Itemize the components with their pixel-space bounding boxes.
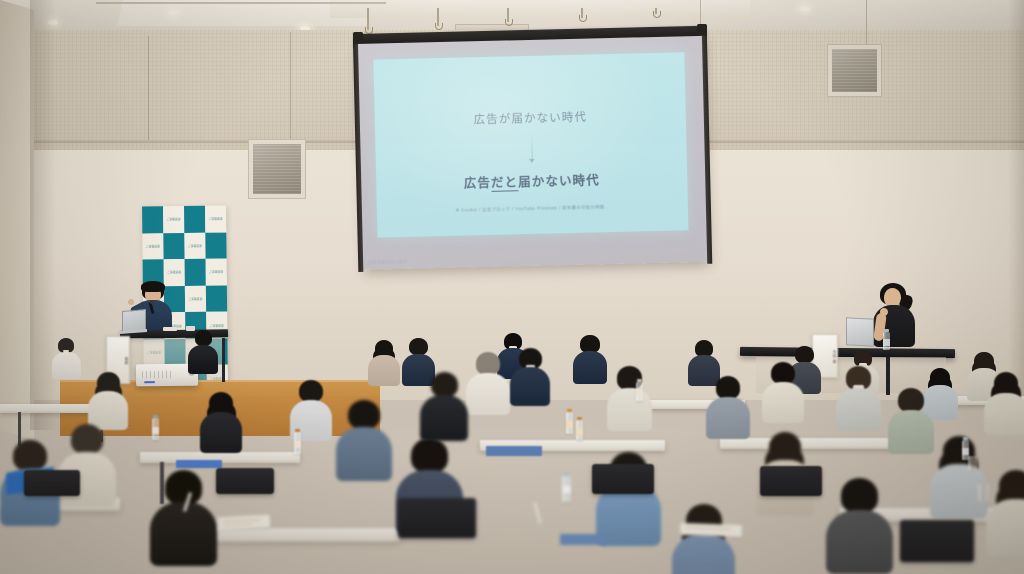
bottle-label [636, 390, 643, 397]
screen-hook [655, 8, 657, 14]
backdrop-cell-label: ご清聴感謝 [206, 323, 227, 327]
audience-member [150, 470, 217, 572]
bottle-cap [153, 415, 158, 418]
audience-member [58, 424, 116, 512]
wall-speaker-grille [828, 45, 881, 96]
bottle-label [962, 448, 969, 455]
ceiling-downlight [168, 10, 178, 15]
audience-member-hair [299, 380, 323, 402]
chair-back [760, 466, 822, 496]
panelist-hand [880, 308, 888, 316]
audience-member [368, 340, 400, 389]
audience-member [52, 338, 81, 381]
handout-line [223, 519, 261, 522]
audience-member [986, 470, 1024, 561]
bottle-cap [637, 379, 642, 382]
screen-hook [367, 8, 369, 30]
screen-side-rail [353, 44, 363, 272]
audience-member-hair [195, 330, 212, 346]
backdrop-cell-teal [142, 206, 163, 233]
audience-member [200, 392, 242, 456]
bottle-cap [567, 409, 572, 412]
audience-member-hair [898, 388, 924, 412]
audience-member-torso [573, 351, 607, 384]
audience-member-torso [466, 373, 510, 415]
audience-member [466, 352, 510, 419]
handout [680, 523, 742, 537]
audience-member [930, 436, 988, 524]
backdrop-cell-teal [163, 233, 184, 260]
audience-member-torso [706, 397, 750, 439]
slide-headline-before: 広告が届かない時代 [375, 106, 686, 129]
presenter-notes [163, 327, 177, 331]
audience-member [888, 388, 934, 458]
backdrop-cell-label: ご清聴感謝 [184, 244, 205, 248]
handout [218, 515, 271, 531]
backdrop-cell-label: ご清聴感謝 [185, 297, 206, 301]
bottle-cap [963, 437, 968, 440]
bottle-label [883, 339, 890, 346]
audience-member [762, 362, 804, 426]
wall-speaker-grille [249, 140, 305, 198]
backdrop-cell-white: ご清聴感謝 [163, 206, 184, 233]
chair-back [398, 498, 476, 538]
audience-member-torso [336, 427, 392, 481]
projector-vent [142, 371, 172, 378]
slide-headline-after-pre: 広告 [464, 175, 492, 191]
audience-member [836, 366, 881, 435]
projected-slide: 広告が届かない時代 広告だと届かない時代 ※ Cookie / 広告ブロック /… [373, 52, 688, 237]
audience-member [510, 348, 550, 410]
chair-back [24, 470, 80, 496]
audience-member-hair [695, 340, 713, 357]
audience-member [573, 335, 607, 387]
panelist-laptop [846, 317, 874, 346]
audience-member-torso [986, 499, 1024, 556]
screen-hook [437, 8, 439, 26]
water-bottle [883, 332, 890, 350]
backdrop-cell-label: ご清聴感謝 [206, 270, 227, 274]
audience-member-hair [431, 372, 458, 397]
wall-panel-seam [290, 32, 291, 140]
notebook [176, 460, 222, 468]
audience-member-hair [580, 335, 599, 353]
audience-member-hair [409, 338, 428, 355]
backdrop-cell-teal [206, 285, 227, 312]
backdrop-cell-label: ご清聴感謝 [142, 244, 163, 248]
presenter-table-leg [222, 338, 225, 382]
audience-member-torso [188, 345, 218, 374]
right-wall-edge [1008, 0, 1024, 420]
notebook [560, 534, 606, 545]
microphone-head [150, 300, 155, 304]
chair-back [900, 520, 974, 562]
audience-member-torso [672, 534, 735, 574]
audience-member-torso [826, 510, 893, 574]
water-bottle [566, 412, 573, 434]
audience-member-torso [150, 502, 217, 566]
screen-hook [581, 8, 583, 18]
water-bottle [636, 382, 643, 401]
slide-arrow-icon [531, 134, 533, 162]
backdrop-cell-label: ご清聴感謝 [163, 217, 184, 221]
water-bottle [576, 420, 583, 440]
audience-member-hair [795, 346, 814, 363]
slide-headline-after-post: 届かない時代 [518, 172, 600, 189]
wall-panel-seam [148, 36, 149, 140]
audience-member-torso [984, 393, 1024, 435]
seminar-room-photo: 広告が届かない時代 広告だと届かない時代 ※ Cookie / 広告ブロック /… [0, 0, 1024, 574]
audience-member-torso [607, 388, 652, 431]
handout-line [685, 527, 731, 530]
audience-member [826, 478, 893, 574]
audience-member-hair [71, 424, 104, 454]
audience-member-hair [13, 440, 47, 471]
audience-member [336, 400, 392, 485]
water-bottle [152, 418, 159, 440]
audience-member-hair [165, 470, 203, 505]
iced-coffee-cup [968, 456, 977, 471]
water-bottle [294, 432, 301, 454]
backdrop-cell-label: ご清聴感謝 [164, 270, 185, 274]
backdrop-cell-white: ご清聴感謝 [184, 232, 205, 259]
backdrop-cell-white: ご清聴感謝 [205, 206, 226, 233]
audience-member-torso [510, 367, 550, 406]
notebook [486, 446, 542, 456]
presenter-hair-top [141, 281, 165, 292]
screen-hook [507, 8, 509, 22]
backdrop-cell-label: ご清聴感謝 [205, 217, 226, 221]
audience-member-hair [476, 352, 501, 375]
bottle-label [294, 441, 301, 448]
slide-footer-label: 広告が届かない時代 [368, 259, 408, 266]
chair-back [592, 464, 654, 494]
audience-member [607, 366, 652, 435]
audience-member [706, 376, 750, 443]
ceiling-downlight [800, 6, 810, 11]
panelist-seated-right [866, 283, 928, 353]
audience-member-torso [420, 395, 468, 441]
audience-member-torso [888, 410, 934, 454]
audience-member [672, 504, 735, 574]
bottle-cap [884, 329, 889, 332]
backdrop-cell-white: ご清聴感謝 [206, 259, 227, 286]
slide-headline-after-emphasis: だと [491, 174, 519, 192]
bottle-cap [295, 429, 300, 432]
handout-line [223, 524, 253, 527]
audience-member-torso [836, 388, 881, 431]
bottle-label [566, 421, 573, 428]
bottle-label [562, 486, 571, 493]
water-bottle [562, 476, 571, 502]
ceiling-seam [96, 2, 387, 4]
backdrop-cell-teal [205, 232, 226, 259]
projector-status-led [144, 381, 155, 383]
bottle-label [576, 428, 583, 435]
audience-member [984, 372, 1024, 439]
audience-member-torso [52, 352, 81, 379]
audience-member-torso [762, 382, 804, 422]
projection-screen: 広告が届かない時代 広告だと届かない時代 ※ Cookie / 広告ブロック /… [355, 8, 710, 273]
presenter-left-hand [128, 299, 134, 305]
audience-member [420, 372, 468, 446]
screen-surface: 広告が届かない時代 広告だと届かない時代 ※ Cookie / 広告ブロック /… [357, 36, 708, 270]
slide-headline-after: 広告だと届かない時代 [376, 167, 687, 193]
audience-member-torso [368, 355, 400, 386]
bottle-label [152, 427, 159, 434]
left-wall [0, 0, 34, 440]
audience-member-hair [348, 400, 380, 429]
bottle-cap [577, 417, 582, 420]
iced-coffee-cup [978, 484, 989, 502]
audience-member [188, 330, 218, 376]
audience-member-hair [716, 376, 741, 399]
audience-member-hair [771, 362, 795, 384]
chair-back [216, 468, 274, 494]
pen [533, 502, 542, 524]
backdrop-cell-teal [185, 259, 206, 286]
audience-member-hair [841, 478, 879, 513]
backdrop-cell-white: ご清聴感謝 [142, 233, 163, 260]
audience-member-torso [200, 412, 242, 452]
backdrop-cell-teal [184, 206, 205, 233]
slide-caption: ※ Cookie / 広告ブロック / YouTube Premium / 若年… [377, 202, 688, 215]
backdrop-cell-white: ご清聴感謝 [185, 285, 206, 312]
bottle-cap [564, 473, 569, 476]
